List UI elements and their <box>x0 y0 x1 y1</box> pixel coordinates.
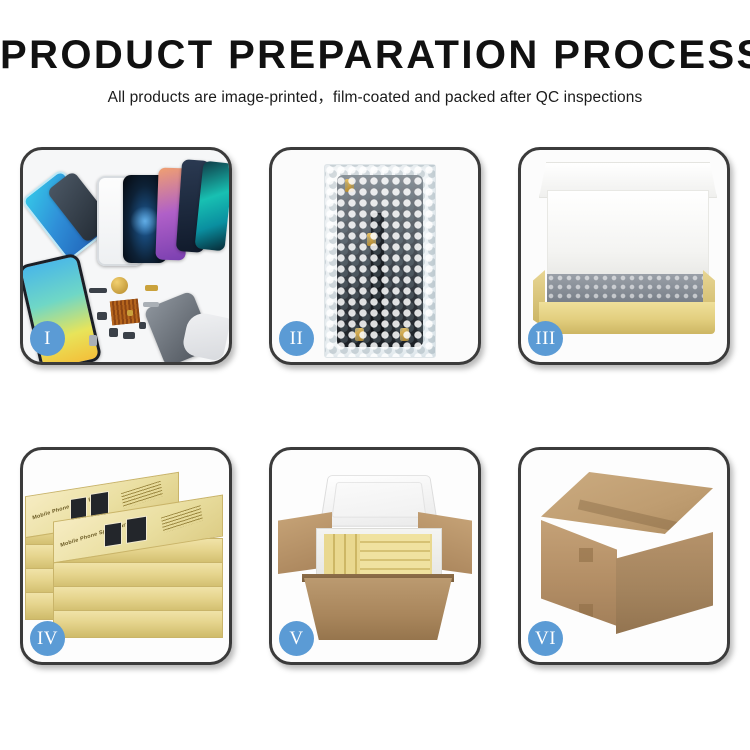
packed-yellow-boxes <box>360 534 430 576</box>
small-part <box>89 335 97 346</box>
carton-top-face <box>541 472 713 534</box>
carton-front-face <box>541 520 617 626</box>
box-window <box>126 516 147 544</box>
step-panel-2: II <box>269 147 481 365</box>
small-part <box>139 322 146 329</box>
white-foam-sheet <box>547 190 709 278</box>
bubble-wrap-bag <box>324 164 436 358</box>
carton-body <box>304 578 452 640</box>
step-panel-4: Mobile Phone Spare Parts Mobile Phone Sp… <box>20 447 232 665</box>
carton-tape-patch <box>579 604 593 617</box>
small-part <box>97 312 107 320</box>
box-spec-lines <box>161 505 203 533</box>
step-badge: I <box>30 321 65 356</box>
bubble-texture-highlight <box>325 165 435 357</box>
page-title: PRODUCT PREPARATION PROCESS <box>0 34 750 76</box>
header: PRODUCT PREPARATION PROCESS All products… <box>0 0 750 107</box>
small-part <box>127 310 133 316</box>
step-badge: V <box>279 621 314 656</box>
circuit-board <box>110 299 140 326</box>
step-panel-1: I <box>20 147 232 365</box>
step-badge: III <box>528 321 563 356</box>
product-preparation-infographic: PRODUCT PREPARATION PROCESS All products… <box>0 0 750 750</box>
carton-tape-patch <box>579 548 593 562</box>
gold-component <box>111 277 128 294</box>
page-subtitle: All products are image-printed，film-coat… <box>0 85 750 107</box>
small-part <box>123 332 135 339</box>
step-panel-3: III <box>518 147 730 365</box>
small-part <box>109 328 118 337</box>
grey-bubble-padding <box>547 274 707 304</box>
box-window <box>104 522 122 548</box>
step-badge: VI <box>528 621 563 656</box>
small-part <box>143 302 159 307</box>
box-front-panel <box>539 302 715 334</box>
step-panel-5: V <box>269 447 481 665</box>
small-part <box>89 288 107 293</box>
small-part <box>145 285 158 291</box>
step-badge: II <box>279 321 314 356</box>
carton-side-face <box>616 532 713 634</box>
stacked-box <box>53 610 223 638</box>
step-panel-6: VI <box>518 447 730 665</box>
step-badge: IV <box>30 621 65 656</box>
process-step-grid: I II <box>20 147 730 665</box>
